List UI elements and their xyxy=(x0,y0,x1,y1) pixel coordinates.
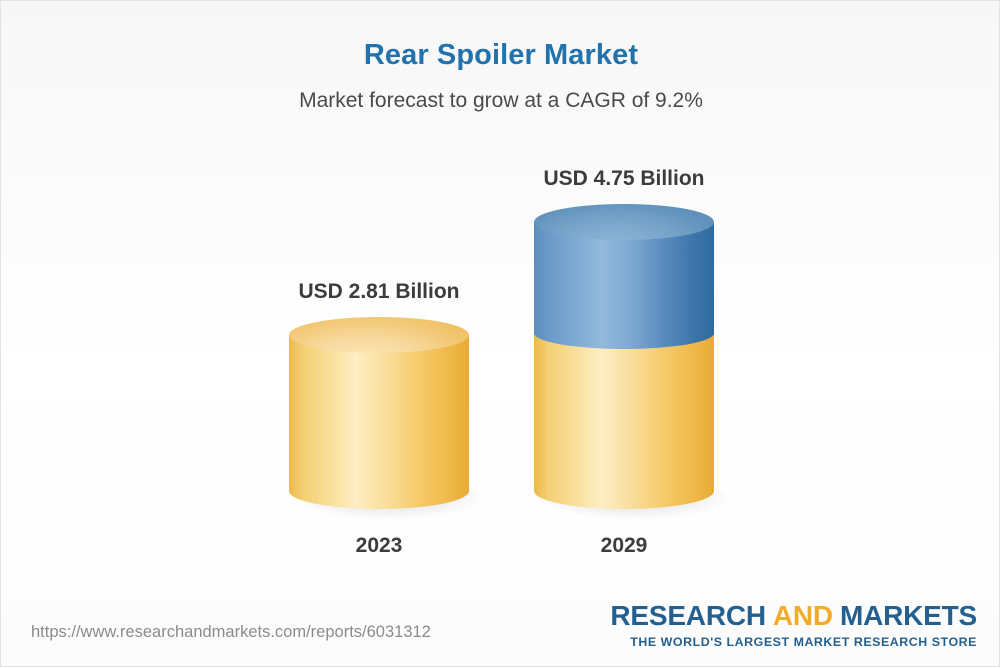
source-url[interactable]: https://www.researchandmarkets.com/repor… xyxy=(31,623,431,642)
bar-cylinder-2029 xyxy=(534,204,714,509)
bar-top-ellipse-2029 xyxy=(534,204,714,240)
bar-cylinder-2023 xyxy=(289,317,469,509)
bar-body-2023 xyxy=(289,335,469,491)
bar-bottom-ellipse-2023 xyxy=(289,473,469,509)
brand-logo[interactable]: RESEARCHANDMARKETS THE WORLD'S LARGEST M… xyxy=(610,602,977,648)
bar-segment-divider-ellipse-2029 xyxy=(534,317,714,349)
chart-plot-area: USD 2.81 Billion 2023 USD 4.75 Billion xyxy=(1,1,1000,668)
bar-category-label-2029: 2029 xyxy=(534,534,714,558)
bar-value-label-2023: USD 2.81 Billion xyxy=(289,280,469,304)
bar-bottom-ellipse-2029 xyxy=(534,473,714,509)
brand-logo-word-markets: MARKETS xyxy=(840,600,977,631)
brand-logo-tagline: THE WORLD'S LARGEST MARKET RESEARCH STOR… xyxy=(610,636,977,648)
infographic-canvas: Rear Spoiler Market Market forecast to g… xyxy=(0,0,1000,667)
brand-logo-word-research: RESEARCH xyxy=(610,600,766,631)
bar-segment-base-2029 xyxy=(534,335,714,491)
brand-logo-wordmark: RESEARCHANDMARKETS xyxy=(610,602,977,630)
bar-top-ellipse-2023 xyxy=(289,317,469,353)
bar-category-label-2023: 2023 xyxy=(289,534,469,558)
brand-logo-word-and: AND xyxy=(773,600,833,631)
bar-value-label-2029: USD 4.75 Billion xyxy=(534,167,714,191)
